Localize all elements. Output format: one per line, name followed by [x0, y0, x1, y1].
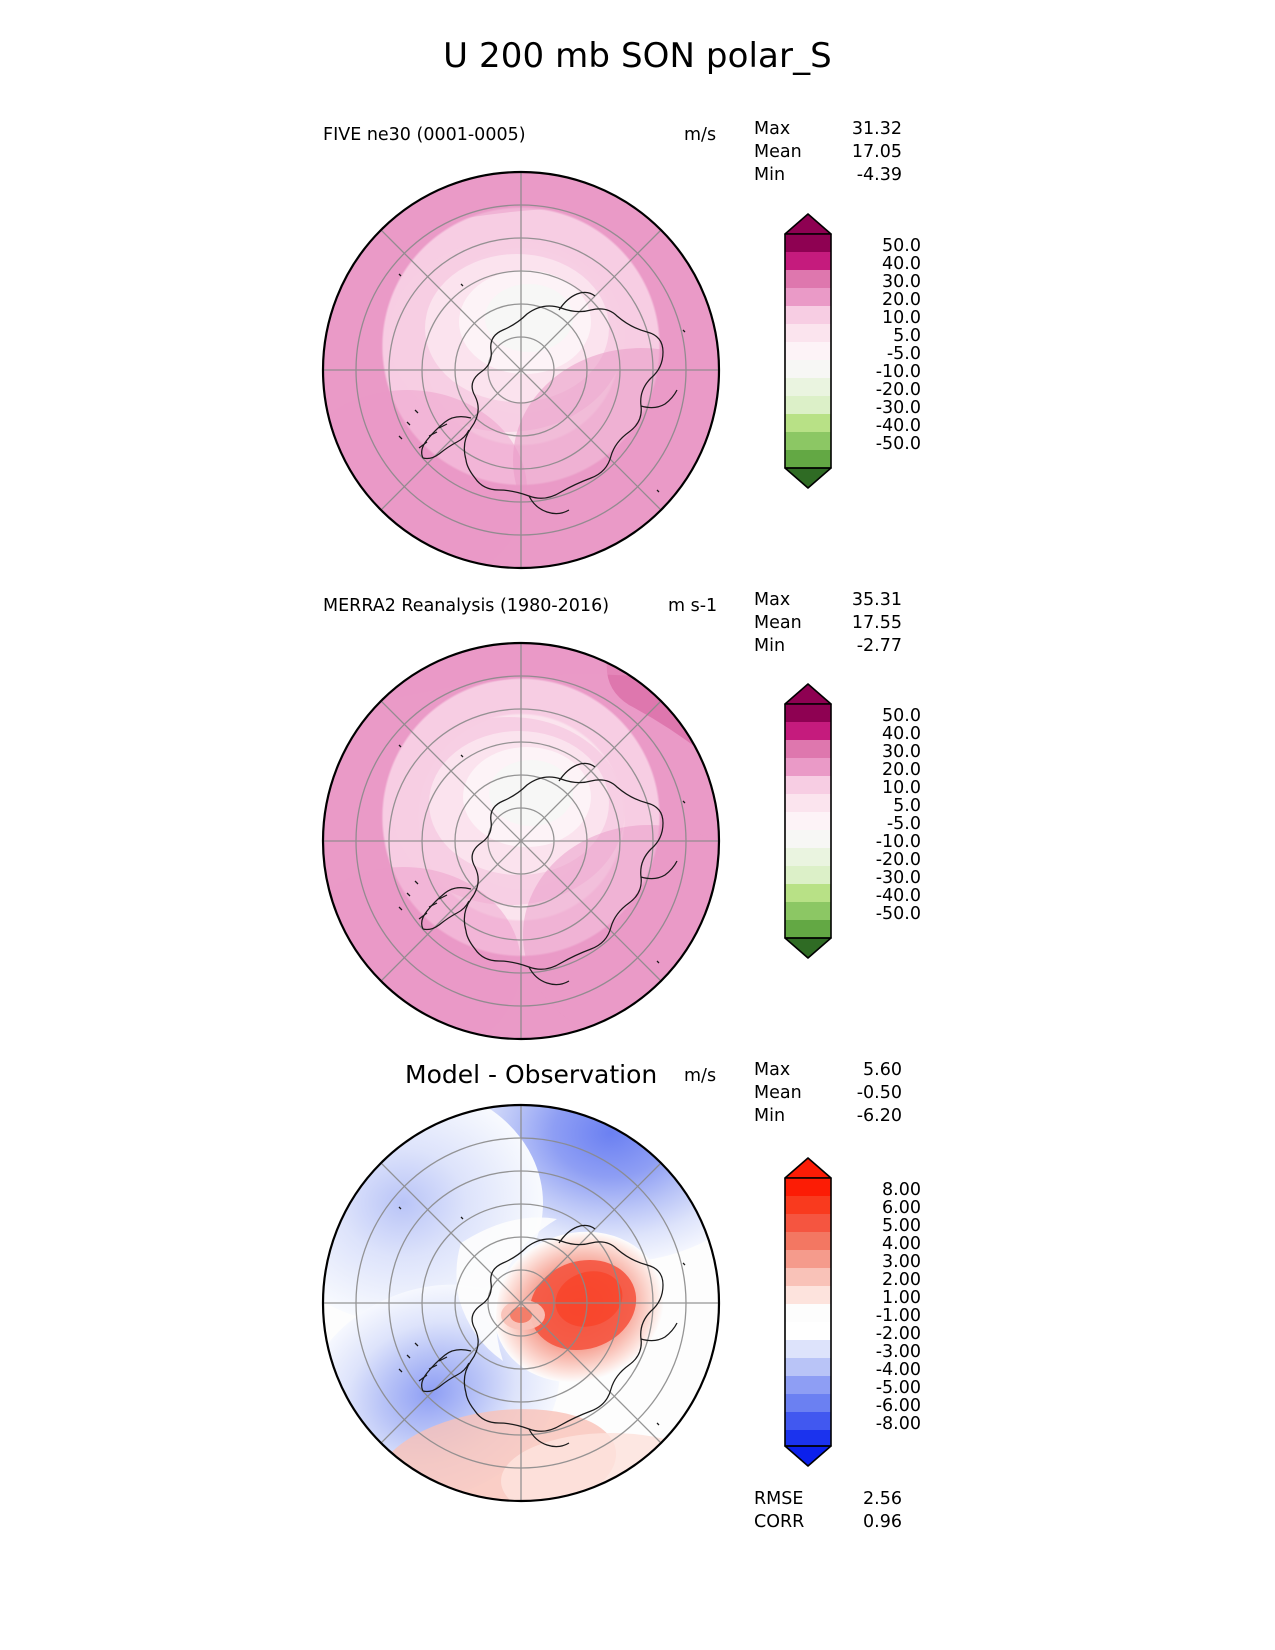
stat-row: Mean17.55 — [754, 612, 902, 635]
colorbar-difference: 8.00 6.00 5.00 4.00 3.00 2.00 1.00 -1.00… — [781, 1156, 835, 1468]
stat-label: Mean — [754, 612, 828, 635]
colorbar-tick: -2.00 — [841, 1324, 921, 1344]
colorbar-tick: -4.00 — [841, 1360, 921, 1380]
footer-stat-label: CORR — [754, 1511, 828, 1534]
colorbar-tick: 1.00 — [841, 1288, 921, 1308]
stat-value: 35.31 — [828, 589, 902, 612]
colorbar-tick: -10.0 — [841, 832, 921, 852]
colorbar-tick: -40.0 — [841, 416, 921, 436]
colorbar-tick: 6.00 — [841, 1198, 921, 1218]
colorbar-tick: -50.0 — [841, 434, 921, 454]
polar-map-observation — [311, 631, 731, 1051]
colorbar-tick: 3.00 — [841, 1252, 921, 1272]
colorbar-tick: 10.0 — [841, 308, 921, 328]
colorbar-tick: -6.00 — [841, 1396, 921, 1416]
stat-value: 31.32 — [828, 118, 902, 141]
stat-row: Min-6.20 — [754, 1105, 902, 1128]
stat-row: Max5.60 — [754, 1059, 902, 1082]
stat-label: Max — [754, 118, 828, 141]
colorbar-tick: -20.0 — [841, 850, 921, 870]
colorbar-tick: 50.0 — [841, 236, 921, 256]
stat-label: Min — [754, 635, 828, 658]
colorbar-tick: 2.00 — [841, 1270, 921, 1290]
panel-model: FIVE ne30 (0001-0005) m/s Max31.32 Mean1… — [0, 110, 1275, 580]
colorbar-observation: 50.0 40.0 30.0 20.0 10.0 5.0 -5.0 -10.0 … — [781, 682, 835, 960]
stats-block-difference: Max5.60 Mean-0.50 Min-6.20 — [754, 1059, 902, 1128]
colorbar-tick: 8.00 — [841, 1180, 921, 1200]
panel-units-model: m/s — [684, 125, 716, 145]
panel-difference: Model - Observation m/s Max5.60 Mean-0.5… — [0, 1048, 1275, 1608]
footer-stat-row: CORR0.96 — [754, 1511, 902, 1534]
colorbar-tick: 20.0 — [841, 290, 921, 310]
colorbar-tick: -5.0 — [841, 814, 921, 834]
colorbar-tick: 30.0 — [841, 272, 921, 292]
stats-block-observation: Max35.31 Mean17.55 Min-2.77 — [754, 589, 902, 658]
stat-label: Max — [754, 589, 828, 612]
stat-label: Mean — [754, 141, 828, 164]
stat-value: -2.77 — [828, 635, 902, 658]
panel-units-observation: m s-1 — [668, 596, 717, 616]
footer-stat-value: 0.96 — [828, 1511, 902, 1534]
colorbar-tick: 5.0 — [841, 796, 921, 816]
panel-units-difference: m/s — [684, 1066, 716, 1086]
colorbar-tick: 10.0 — [841, 778, 921, 798]
stat-label: Min — [754, 1105, 828, 1128]
colorbar-tick: -10.0 — [841, 362, 921, 382]
footer-stat-value: 2.56 — [828, 1488, 902, 1511]
stat-row: Min-4.39 — [754, 164, 902, 187]
footer-stats-difference: RMSE2.56 CORR0.96 — [754, 1488, 902, 1534]
stat-row: Max35.31 — [754, 589, 902, 612]
stat-value: -6.20 — [828, 1105, 902, 1128]
colorbar-tick: 40.0 — [841, 254, 921, 274]
polar-map-model — [311, 160, 731, 580]
colorbar-model: 50.0 40.0 30.0 20.0 10.0 5.0 -5.0 -10.0 … — [781, 212, 835, 490]
stat-row: Min-2.77 — [754, 635, 902, 658]
panel-title-observation: MERRA2 Reanalysis (1980-2016) — [323, 596, 609, 616]
colorbar-tick: -8.00 — [841, 1414, 921, 1434]
colorbar-tick: 30.0 — [841, 742, 921, 762]
stat-value: -0.50 — [828, 1082, 902, 1105]
stats-block-model: Max31.32 Mean17.05 Min-4.39 — [754, 118, 902, 187]
colorbar-tick: 5.0 — [841, 326, 921, 346]
colorbar-tick: -1.00 — [841, 1306, 921, 1326]
panel-title-model: FIVE ne30 (0001-0005) — [323, 125, 526, 145]
stat-value: 5.60 — [828, 1059, 902, 1082]
colorbar-tick: -30.0 — [841, 398, 921, 418]
colorbar-tick: 5.00 — [841, 1216, 921, 1236]
stat-label: Max — [754, 1059, 828, 1082]
figure-canvas: U 200 mb SON polar_S FIVE ne30 (0001-000… — [0, 0, 1275, 1650]
colorbar-tick: -20.0 — [841, 380, 921, 400]
stat-row: Mean-0.50 — [754, 1082, 902, 1105]
footer-stat-row: RMSE2.56 — [754, 1488, 902, 1511]
stat-value: 17.05 — [828, 141, 902, 164]
colorbar-tick: -50.0 — [841, 904, 921, 924]
colorbar-tick: 40.0 — [841, 724, 921, 744]
stat-row: Mean17.05 — [754, 141, 902, 164]
panel-title-difference: Model - Observation — [405, 1060, 657, 1089]
footer-stat-label: RMSE — [754, 1488, 828, 1511]
colorbar-tick: 4.00 — [841, 1234, 921, 1254]
stat-value: 17.55 — [828, 612, 902, 635]
colorbar-tick: -3.00 — [841, 1342, 921, 1362]
panel-observation: MERRA2 Reanalysis (1980-2016) m s-1 Max3… — [0, 583, 1275, 1053]
stat-label: Min — [754, 164, 828, 187]
colorbar-tick: -5.00 — [841, 1378, 921, 1398]
colorbar-tick: 50.0 — [841, 706, 921, 726]
colorbar-tick: -30.0 — [841, 868, 921, 888]
stat-row: Max31.32 — [754, 118, 902, 141]
polar-map-difference — [311, 1093, 731, 1513]
stat-label: Mean — [754, 1082, 828, 1105]
colorbar-tick: -40.0 — [841, 886, 921, 906]
colorbar-tick: -5.0 — [841, 344, 921, 364]
colorbar-tick: 20.0 — [841, 760, 921, 780]
page-title: U 200 mb SON polar_S — [0, 36, 1275, 76]
stat-value: -4.39 — [828, 164, 902, 187]
